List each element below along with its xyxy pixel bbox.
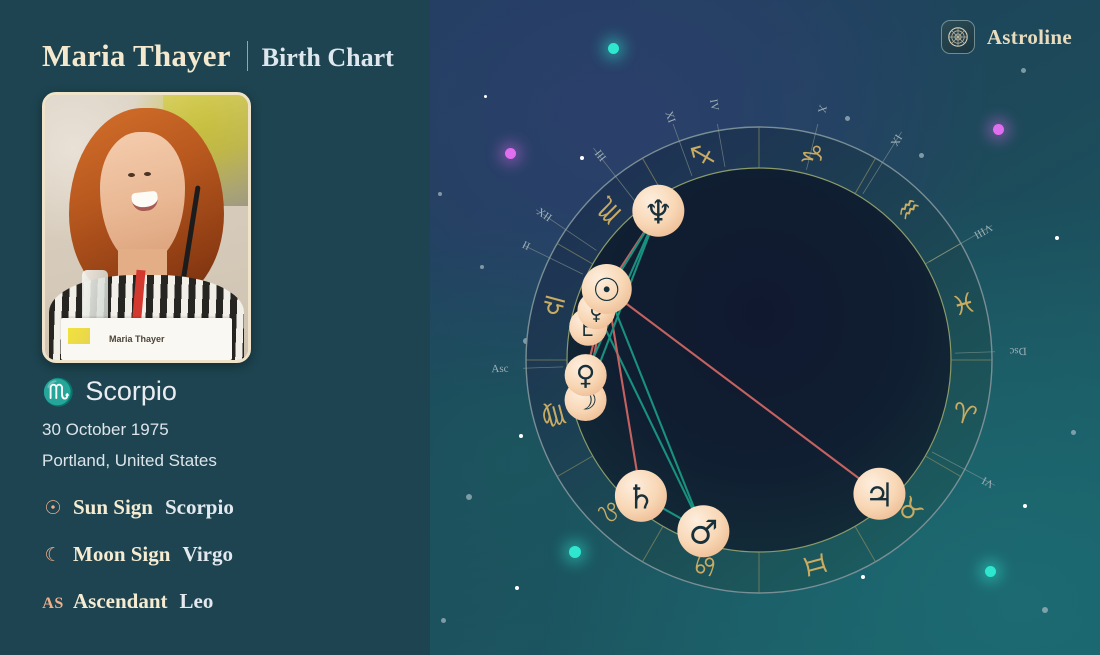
profile-panel: Maria ThayerBirth Chart Maria Thayer ♏ bbox=[0, 0, 430, 655]
chart-kind: Birth Chart bbox=[262, 43, 394, 72]
brand-logo[interactable]: Astroline bbox=[941, 20, 1072, 54]
page-title: Maria ThayerBirth Chart bbox=[42, 38, 394, 74]
house-label-iv: IV bbox=[707, 98, 721, 112]
sun-sign-heading: ♏ Scorpio bbox=[42, 376, 177, 407]
star bbox=[441, 618, 446, 623]
brand-name: Astroline bbox=[987, 25, 1072, 50]
sun-sign-heading-name: Scorpio bbox=[85, 376, 177, 407]
star bbox=[1055, 236, 1059, 240]
astrolabe-icon bbox=[941, 20, 975, 54]
planet-marker-sun[interactable]: ☉ bbox=[582, 264, 632, 314]
star bbox=[515, 586, 519, 590]
wheel-svg: ♊♉♈♓♒♑♐♏♎♍♌♋ ♂♄♃☽♀♇☿☉♆ bbox=[523, 124, 995, 596]
stat-label-ascendant: Ascendant bbox=[73, 589, 168, 614]
star bbox=[1042, 607, 1048, 613]
planet-marker-neptune[interactable]: ♆ bbox=[632, 185, 684, 237]
house-label-asc: Asc bbox=[491, 363, 509, 376]
birth-chart-page: ♊♉♈♓♒♑♐♏♎♍♌♋ ♂♄♃☽♀♇☿☉♆ AscIIIIIIVDscVIVI… bbox=[0, 0, 1100, 655]
planet-glyph-venus: ♀ bbox=[576, 361, 596, 392]
stat-value-moon-sign: Virgo bbox=[182, 542, 233, 567]
profile-photo: Maria Thayer bbox=[42, 92, 251, 363]
star bbox=[438, 192, 442, 196]
stat-value-sun-sign: Scorpio bbox=[165, 495, 234, 520]
photo-nameplate: Maria Thayer bbox=[61, 318, 232, 360]
stat-label-moon-sign: Moon Sign bbox=[73, 542, 170, 567]
planet-glyph-saturn: ♄ bbox=[626, 477, 656, 516]
star bbox=[1071, 430, 1076, 435]
nameplate-text: Maria Thayer bbox=[109, 334, 165, 344]
planet-marker-jupiter[interactable]: ♃ bbox=[853, 468, 905, 520]
astrolabe-glyph bbox=[946, 25, 970, 49]
planet-glyph-mars: ♂ bbox=[689, 513, 719, 552]
title-divider bbox=[247, 41, 248, 71]
star bbox=[1021, 68, 1026, 73]
planet-marker-saturn[interactable]: ♄ bbox=[615, 470, 667, 522]
star bbox=[484, 95, 487, 98]
star-glow-cyan bbox=[608, 43, 619, 54]
nameplate-logo bbox=[68, 328, 90, 344]
star-glow-pink bbox=[505, 148, 516, 159]
stat-row-ascendant: AS Ascendant Leo bbox=[42, 589, 213, 614]
photo-eye-right bbox=[144, 172, 151, 176]
ascendant-icon: AS bbox=[42, 596, 64, 612]
planet-marker-venus[interactable]: ♀ bbox=[565, 354, 607, 396]
planet-marker-mars[interactable]: ♂ bbox=[677, 505, 729, 557]
birth-place: Portland, United States bbox=[42, 451, 217, 471]
birth-date: 30 October 1975 bbox=[42, 420, 169, 440]
photo-smile bbox=[131, 190, 159, 212]
stat-row-sun-sign: ☉ Sun Sign Scorpio bbox=[42, 495, 234, 520]
stat-row-moon-sign: ☾ Moon Sign Virgo bbox=[42, 542, 233, 567]
star bbox=[1023, 504, 1027, 508]
stat-value-ascendant: Leo bbox=[180, 589, 214, 614]
person-name: Maria Thayer bbox=[42, 38, 231, 73]
star bbox=[845, 116, 850, 121]
planet-glyph-jupiter: ♃ bbox=[865, 475, 895, 514]
stat-label-sun-sign: Sun Sign bbox=[73, 495, 153, 520]
planet-glyph-sun: ☉ bbox=[592, 271, 621, 309]
moon-icon: ☾ bbox=[42, 546, 64, 565]
birth-chart-wheel[interactable]: ♊♉♈♓♒♑♐♏♎♍♌♋ ♂♄♃☽♀♇☿☉♆ AscIIIIIIVDscVIVI… bbox=[523, 124, 995, 596]
star bbox=[466, 494, 472, 500]
planet-glyph-neptune: ♆ bbox=[644, 192, 674, 231]
star bbox=[480, 265, 484, 269]
scorpio-glyph-icon: ♏ bbox=[42, 379, 74, 405]
sun-icon: ☉ bbox=[42, 499, 64, 518]
house-label-dsc: Dsc bbox=[1009, 345, 1027, 358]
photo-eye-left bbox=[128, 173, 135, 177]
